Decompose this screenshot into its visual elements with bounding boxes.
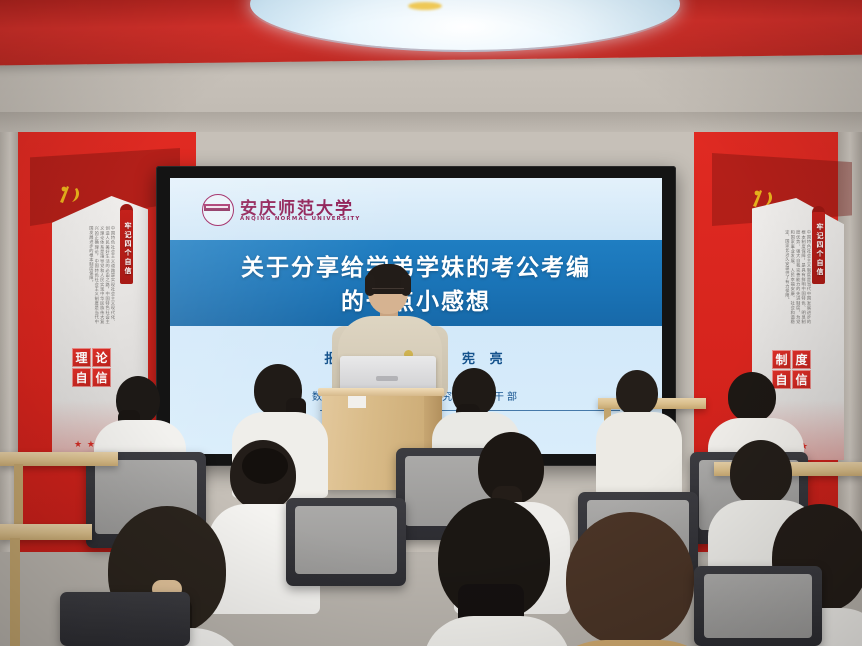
- board-body-text-left: 中国特色社会主义道路是实现社会主义现代化、创造人民美好生活的必由之路，中国特色社…: [64, 226, 116, 324]
- torso: [550, 640, 714, 646]
- chair-mesh: [704, 574, 812, 638]
- seal-char: 信: [92, 368, 111, 387]
- head: [616, 370, 658, 416]
- board-seal-group-right: 制 度 自 信: [772, 350, 811, 389]
- board-seal-group-left: 理 论 自 信: [72, 348, 111, 387]
- board-vertical-title-left: 牢记四个自信: [120, 210, 133, 284]
- chair-mesh: [295, 506, 397, 574]
- seal-char: 信: [792, 370, 811, 389]
- party-emblem-icon: [55, 182, 85, 208]
- head: [566, 512, 694, 646]
- desk-leg: [14, 464, 23, 530]
- head: [728, 372, 776, 422]
- seal-char: 论: [92, 348, 111, 367]
- lecture-room-photo: 牢记四个自信 中国特色社会主义道路是实现社会主义现代化、创造人民美好生活的必由之…: [0, 0, 862, 646]
- seal-char: 自: [772, 370, 791, 389]
- podium-name-card: [348, 396, 366, 408]
- chair: [60, 592, 190, 646]
- seal-char: 度: [792, 350, 811, 369]
- seal-char: 制: [772, 350, 791, 369]
- podium-top-surface: [318, 388, 444, 396]
- torso: [596, 412, 682, 496]
- seal-char: 自: [72, 368, 91, 387]
- torso: [424, 616, 570, 646]
- hair-bun: [242, 448, 288, 484]
- seal-char: 理: [72, 348, 91, 367]
- head: [730, 440, 792, 506]
- board-vertical-title-right: 牢记四个自信: [812, 212, 825, 284]
- board-body-text-right: 中国特色社会主义制度是当代中国发展进步的根本制度保障，是具有鲜明中国特色、明显制…: [764, 230, 812, 324]
- presenter-glasses-icon: [372, 288, 404, 297]
- desk-leg: [10, 538, 20, 646]
- ceiling-light-glint: [408, 2, 442, 10]
- laptop-brand-mark: [376, 376, 398, 381]
- ceiling-shadow: [0, 112, 862, 132]
